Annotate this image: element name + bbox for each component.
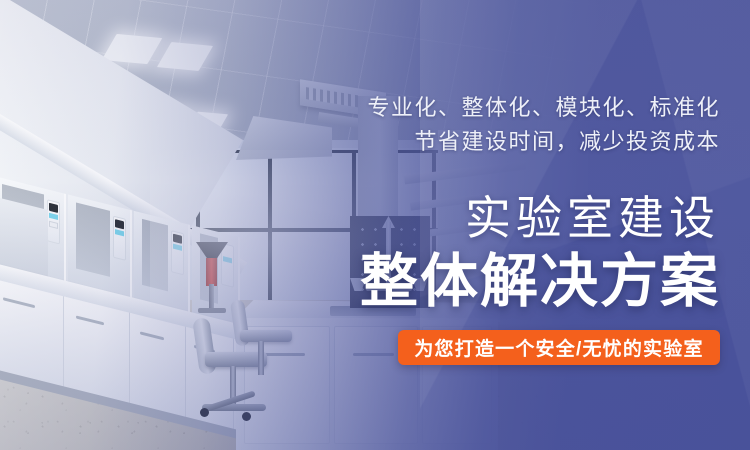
headline-secondary: 整体解决方案 bbox=[360, 234, 720, 318]
cta-button[interactable]: 为您打造一个安全/无忧的实验室 bbox=[398, 330, 720, 365]
chair-seat bbox=[240, 330, 292, 342]
cabinet-handle-icon bbox=[140, 331, 164, 340]
eyewash-base bbox=[198, 308, 226, 313]
cabinet-handle-icon bbox=[3, 297, 35, 308]
base-cabinet bbox=[0, 278, 64, 388]
eyewash-stem bbox=[209, 284, 214, 310]
chair-caster bbox=[200, 408, 209, 417]
base-cabinet bbox=[130, 313, 186, 419]
fume-hood-cavity bbox=[142, 219, 168, 291]
window-mullion bbox=[268, 152, 272, 324]
eyewash-red-body bbox=[206, 258, 217, 286]
banner-copy-block: 专业化、整体化、模块化、标准化 节省建设时间，减少投资成本 实验室建设 整体解决… bbox=[300, 0, 720, 450]
fume-hood-cavity bbox=[76, 202, 110, 276]
chair-gas-post bbox=[258, 341, 264, 375]
cta-button-label: 为您打造一个安全/无忧的实验室 bbox=[414, 334, 703, 361]
cabinet-handle-icon bbox=[76, 315, 105, 325]
chair-caster bbox=[242, 412, 251, 421]
subtitle-line-2: 节省建设时间，减少投资成本 bbox=[414, 124, 720, 156]
lab-solution-banner: 专业化、整体化、模块化、标准化 节省建设时间，减少投资成本 实验室建设 整体解决… bbox=[0, 0, 750, 450]
subtitle-line-1: 专业化、整体化、模块化、标准化 bbox=[367, 90, 720, 122]
